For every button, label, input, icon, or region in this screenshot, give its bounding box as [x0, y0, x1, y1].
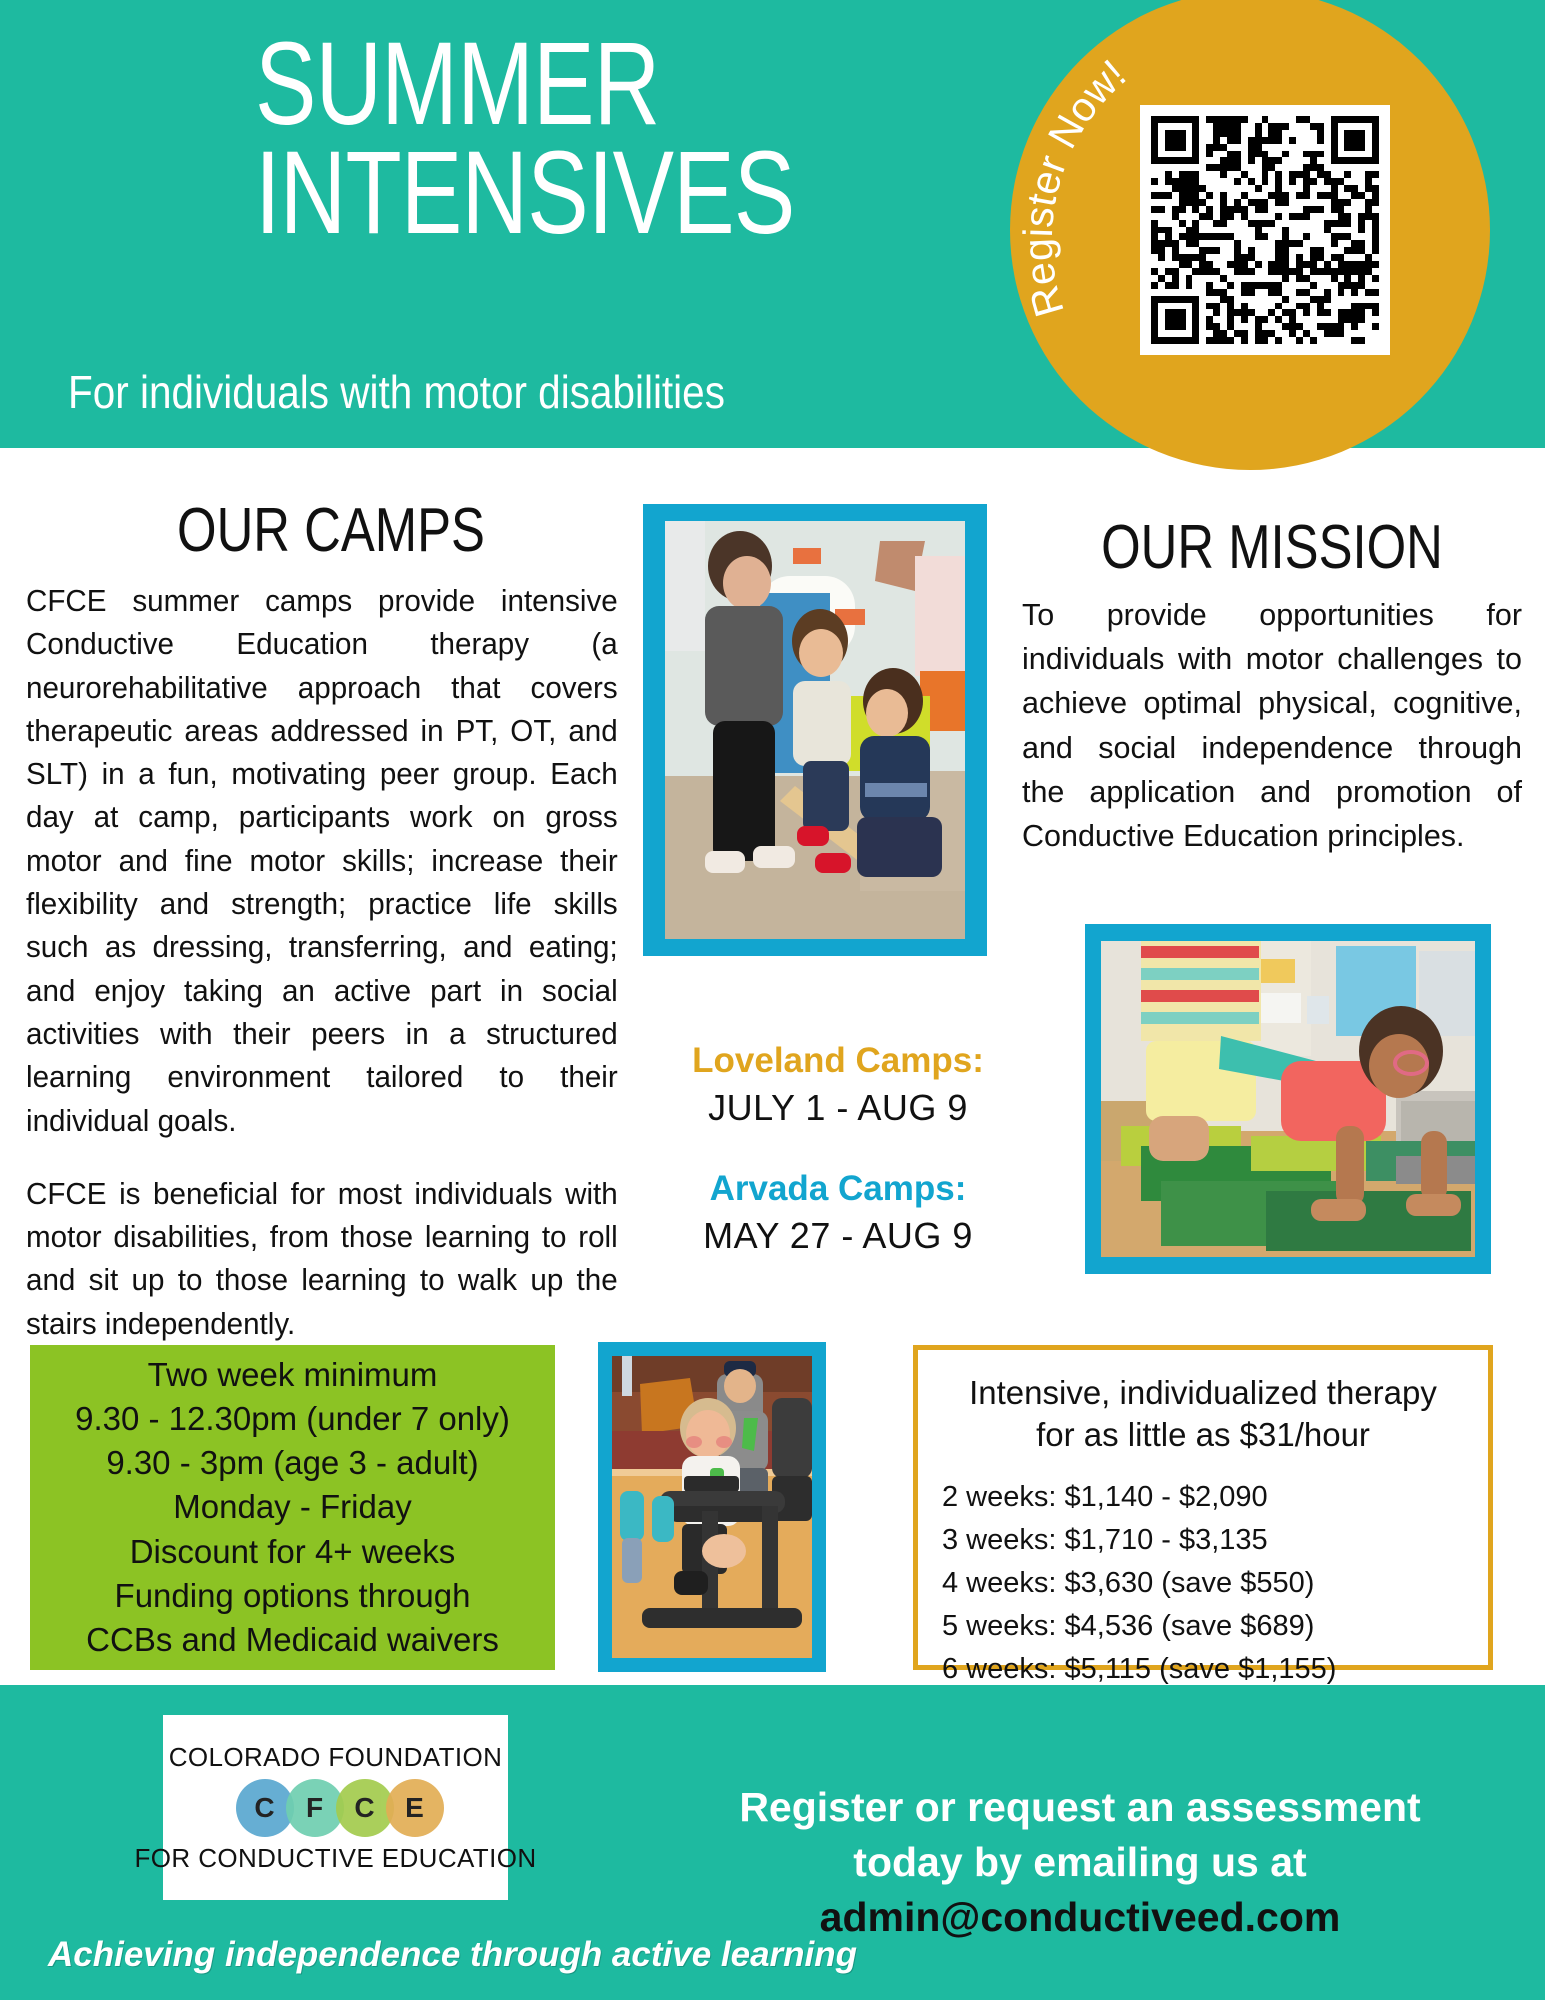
- pricing-row: 2 weeks: $1,140 - $2,090: [942, 1476, 1464, 1519]
- page-title: SUMMER INTENSIVES: [255, 30, 879, 247]
- photo-2-image: [1101, 941, 1475, 1257]
- logo-top-text: COLORADO FOUNDATION: [169, 1742, 503, 1773]
- logo-circle-f-1: F: [286, 1779, 344, 1837]
- contact-line-1: Register or request an assessment: [620, 1780, 1540, 1835]
- schedule-line: CCBs and Medicaid waivers: [86, 1618, 499, 1662]
- arvada-camps-dates: MAY 27 - AUG 9: [628, 1210, 1048, 1262]
- logo-circle-c-0: C: [236, 1779, 294, 1837]
- pricing-title-line-1: Intensive, individualized therapy: [942, 1372, 1464, 1414]
- schedule-line: 9.30 - 12.30pm (under 7 only): [75, 1397, 510, 1441]
- camps-paragraph-1: CFCE summer camps provide intensive Cond…: [26, 580, 618, 1143]
- pricing-row: 4 weeks: $3,630 (save $550): [942, 1562, 1464, 1605]
- schedule-line: Funding options through: [115, 1574, 471, 1618]
- loveland-camps-label: Loveland Camps:: [628, 1040, 1048, 1082]
- our-camps-heading: OUR CAMPS: [81, 495, 581, 566]
- our-mission-body: To provide opportunities for individuals…: [1022, 593, 1522, 858]
- schedule-box: Two week minimum9.30 - 12.30pm (under 7 …: [30, 1345, 555, 1670]
- pricing-title: Intensive, individualized therapy for as…: [942, 1372, 1464, 1456]
- contact-block: Register or request an assessment today …: [620, 1780, 1540, 1945]
- schedule-line: 9.30 - 3pm (age 3 - adult): [106, 1441, 478, 1485]
- photo-child-plank-mats: [1085, 924, 1491, 1274]
- contact-line-2: today by emailing us at: [620, 1835, 1540, 1890]
- photo-3-image: [612, 1356, 812, 1658]
- header-subtitle: For individuals with motor disabilities: [68, 365, 725, 419]
- pricing-title-line-2: for as little as $31/hour: [942, 1414, 1464, 1456]
- cfce-logo: COLORADO FOUNDATION CFCE FOR CONDUCTIVE …: [163, 1715, 508, 1900]
- our-camps-section: OUR CAMPS CFCE summer camps provide inte…: [26, 495, 636, 1376]
- title-line-1: SUMMER: [255, 30, 879, 139]
- flyer-page: SUMMER INTENSIVES For individuals with m…: [0, 0, 1545, 2000]
- arvada-camps-label: Arvada Camps:: [628, 1168, 1048, 1210]
- logo-circle-c-2: C: [336, 1779, 394, 1837]
- logo-bottom-text: FOR CONDUCTIVE EDUCATION: [135, 1843, 537, 1874]
- logo-circle-e-3: E: [386, 1779, 444, 1837]
- pricing-box: Intensive, individualized therapy for as…: [913, 1345, 1493, 1670]
- title-line-2: INTENSIVES: [255, 139, 879, 248]
- photo-therapy-balance-beam: [643, 504, 987, 956]
- schedule-line: Discount for 4+ weeks: [130, 1530, 456, 1574]
- camp-dates: Loveland Camps: JULY 1 - AUG 9 Arvada Ca…: [628, 1040, 1048, 1262]
- pricing-row: 3 weeks: $1,710 - $3,135: [942, 1519, 1464, 1562]
- schedule-line: Monday - Friday: [173, 1485, 411, 1529]
- contact-email[interactable]: admin@conductiveed.com: [620, 1890, 1540, 1945]
- pricing-rows: 2 weeks: $1,140 - $2,0903 weeks: $1,710 …: [942, 1476, 1464, 1691]
- dates-spacer: [628, 1134, 1048, 1168]
- photo-child-gait-trainer: [598, 1342, 826, 1672]
- loveland-camps-dates: JULY 1 - AUG 9: [628, 1082, 1048, 1134]
- camps-paragraph-2: CFCE is beneficial for most individuals …: [26, 1173, 618, 1346]
- logo-letter-circles: CFCE: [236, 1779, 436, 1837]
- qr-code[interactable]: [1140, 105, 1390, 355]
- pricing-row: 5 weeks: $4,536 (save $689): [942, 1605, 1464, 1648]
- our-mission-section: OUR MISSION To provide opportunities for…: [1022, 512, 1522, 858]
- our-camps-body: CFCE summer camps provide intensive Cond…: [26, 580, 618, 1346]
- our-mission-heading: OUR MISSION: [1067, 512, 1477, 583]
- schedule-line: Two week minimum: [148, 1353, 438, 1397]
- photo-1-image: [665, 521, 965, 939]
